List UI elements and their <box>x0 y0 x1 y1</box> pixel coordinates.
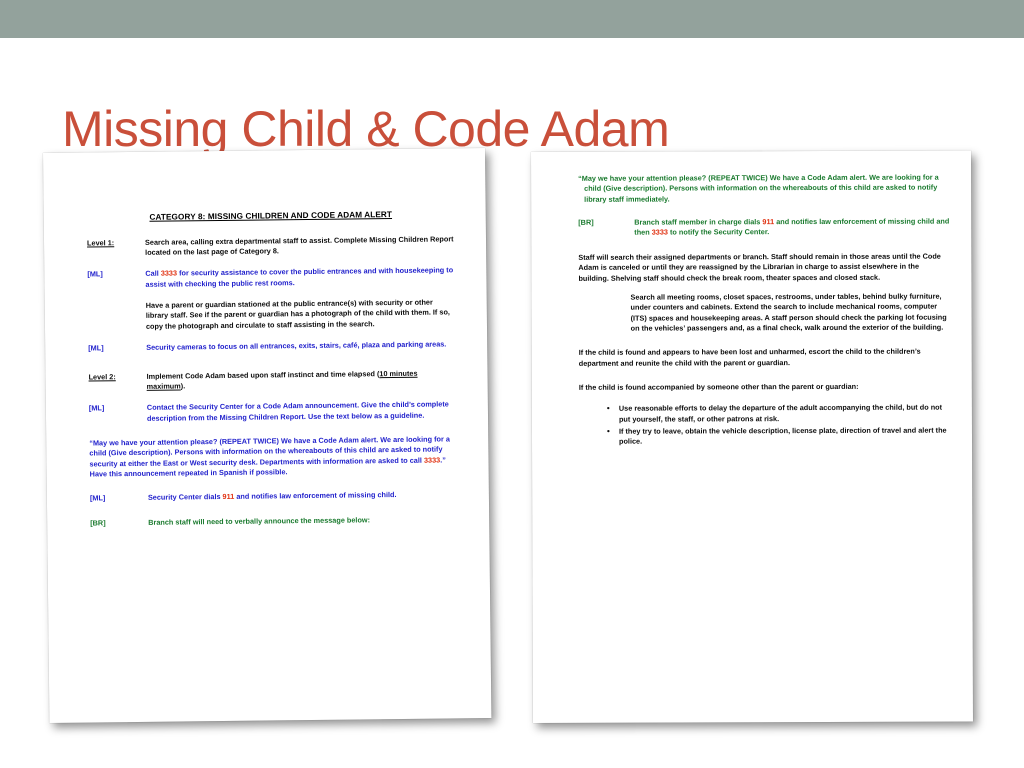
left-block-ml-call-label: [ML] <box>87 269 145 280</box>
left-block-level2-text: Implement Code Adam based upon staff ins… <box>146 368 456 392</box>
left-block-guardian-text: Have a parent or guardian stationed at t… <box>146 297 456 332</box>
right-search-paragraph: Staff will search their assigned departm… <box>578 251 950 283</box>
document-page-right: “May we have your attention please? (REP… <box>531 150 973 723</box>
right-announcement-script: “May we have your attention please? (REP… <box>584 173 950 205</box>
left-block-ml-911: [ML] Security Center dials 911 and notif… <box>90 490 458 505</box>
left-document-body: CATEGORY 8: MISSING CHILDREN AND CODE AD… <box>87 208 459 539</box>
left-block-level2: Level 2: Implement Code Adam based upon … <box>88 368 456 393</box>
left-block-level1: Level 1: Search area, calling extra depa… <box>87 234 455 259</box>
right-found-unharmed: If the child is found and appears to hav… <box>579 347 951 369</box>
left-level2-post: ). <box>181 381 186 390</box>
right-block-br: [BR] Branch staff member in charge dials… <box>578 217 950 239</box>
left-doc-heading: CATEGORY 8: MISSING CHILDREN AND CODE AD… <box>87 208 455 224</box>
list-item: If they try to leave, obtain the vehicle… <box>609 426 951 448</box>
left-block-level1-text: Search area, calling extra departmental … <box>145 234 455 258</box>
left-ml-call-post: for security assistance to cover the pub… <box>145 266 453 289</box>
right-br-number-911: 911 <box>762 217 774 226</box>
left-block-ml-security-center-text: Contact the Security Center for a Code A… <box>147 400 457 424</box>
left-block-ml-911-text: Security Center dials 911 and notifies l… <box>148 490 458 504</box>
left-block-ml-security-center: [ML] Contact the Security Center for a C… <box>89 400 457 425</box>
left-block-ml-call: [ML] Call 3333 for security assistance t… <box>87 266 455 291</box>
right-br-post: to notify the Security Center. <box>668 228 769 237</box>
left-ml-call-number: 3333 <box>161 269 177 278</box>
left-block-level2-label: Level 2: <box>88 371 146 382</box>
right-bullet-list: Use reasonable efforts to delay the depa… <box>579 403 951 448</box>
page-title: Missing Child & Code Adam <box>62 102 669 157</box>
right-br-pre: Branch staff member in charge dials <box>634 217 762 226</box>
right-found-accompanied: If the child is found accompanied by som… <box>579 382 951 394</box>
right-br-number-3333: 3333 <box>652 228 668 237</box>
left-block-level1-label: Level 1: <box>87 237 145 248</box>
document-page-left: CATEGORY 8: MISSING CHILDREN AND CODE AD… <box>43 148 491 723</box>
left-announcement-script: “May we have your attention please? (REP… <box>89 434 457 480</box>
left-ml-911-number: 911 <box>222 492 234 501</box>
left-block-br-label: [BR] <box>90 518 148 529</box>
left-announcement-number: 3333 <box>424 455 440 464</box>
left-block-ml-cameras-text: Security cameras to focus on all entranc… <box>146 339 456 353</box>
left-ml-call-pre: Call <box>145 269 161 278</box>
left-ml-911-post: and notifies law enforcement of missing … <box>234 490 396 501</box>
left-block-ml-call-text: Call 3333 for security assistance to cov… <box>145 266 455 290</box>
left-block-ml-cameras: [ML] Security cameras to focus on all en… <box>88 339 456 354</box>
list-item: Use reasonable efforts to delay the depa… <box>609 403 951 425</box>
left-block-br: [BR] Branch staff will need to verbally … <box>90 514 458 529</box>
left-block-ml-security-center-label: [ML] <box>89 403 147 414</box>
left-block-ml-cameras-label: [ML] <box>88 343 146 354</box>
right-block-br-text: Branch staff member in charge dials 911 … <box>634 217 950 239</box>
right-document-body: “May we have your attention please? (REP… <box>578 173 951 459</box>
top-decorative-band <box>0 0 1024 38</box>
right-block-br-label: [BR] <box>578 218 634 229</box>
right-search-detail: Search all meeting rooms, closet spaces,… <box>630 291 950 334</box>
left-level2-pre: Implement Code Adam based upon staff ins… <box>146 369 379 381</box>
left-block-ml-911-label: [ML] <box>90 493 148 504</box>
left-announcement-part1: “May we have your attention please? (REP… <box>89 434 450 468</box>
left-block-br-text: Branch staff will need to verbally annou… <box>148 514 458 528</box>
left-ml-911-pre: Security Center dials <box>148 492 223 502</box>
